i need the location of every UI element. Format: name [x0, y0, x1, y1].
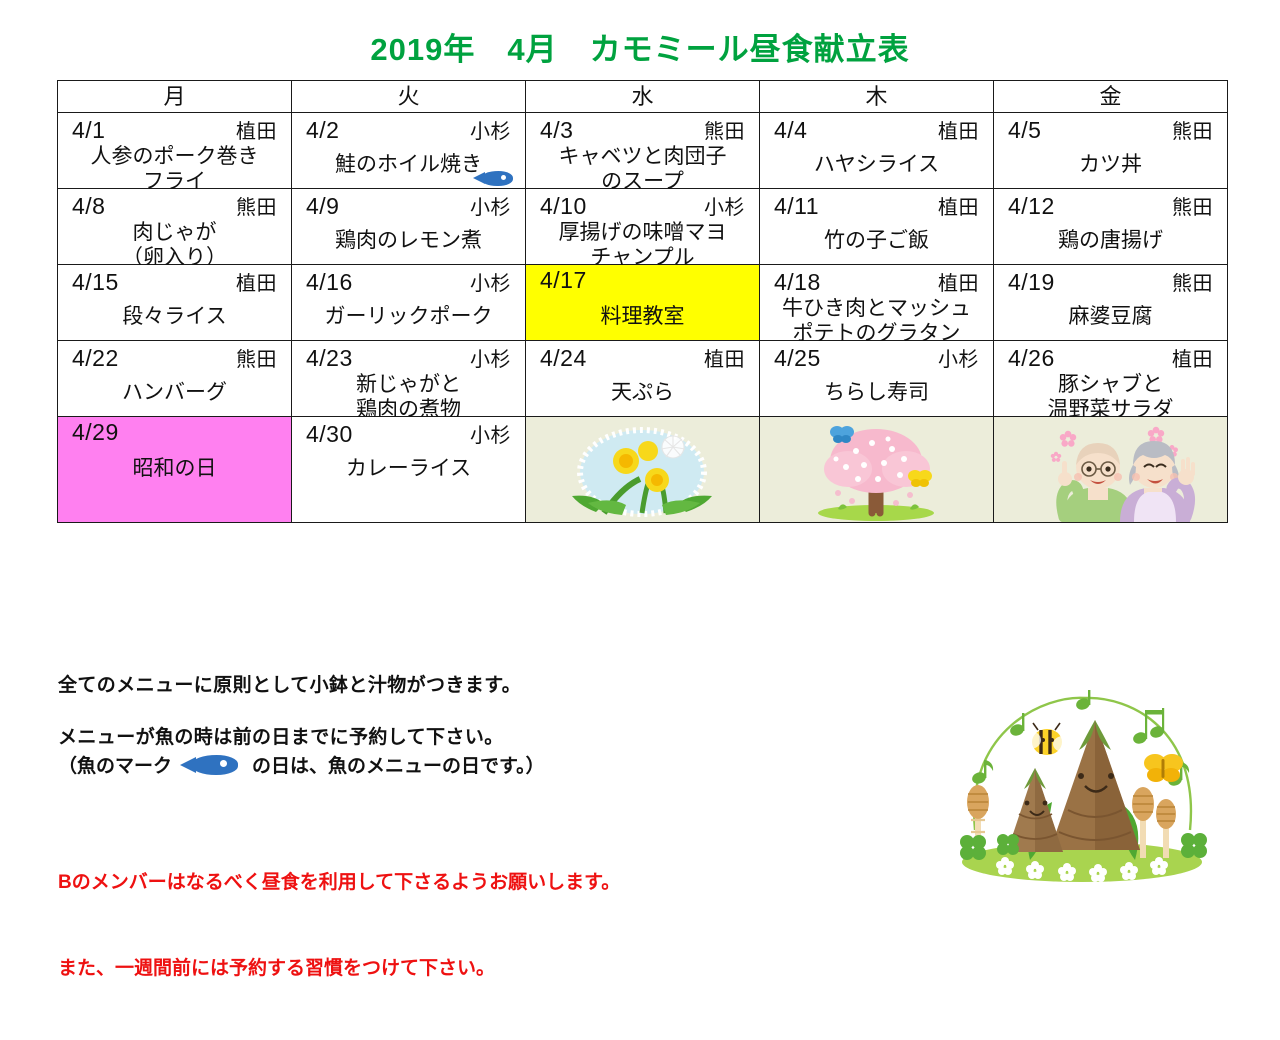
cell-header: 4/16小杉: [292, 265, 525, 293]
menu-cell[interactable]: 4/1植田人参のポーク巻き フライ: [58, 113, 292, 189]
menu-cell[interactable]: 4/29昭和の日: [58, 417, 292, 523]
cell-staff: 小杉: [470, 267, 511, 296]
note-fish-mark: （魚のマーク の日は、魚のメニューの日です。）: [58, 751, 898, 778]
menu-cell[interactable]: 4/26植田豚シャブと 温野菜サラダ: [994, 341, 1228, 417]
menu-cell-4-15[interactable]: 4/15植田段々ライス: [58, 265, 291, 340]
menu-cell-4-5[interactable]: 4/5熊田カツ丼: [994, 113, 1227, 188]
menu-cell-4-9[interactable]: 4/9小杉鶏肉のレモン煮: [292, 189, 525, 264]
menu-cell-4-30[interactable]: 4/30小杉カレーライス: [292, 417, 525, 522]
footer-notes: 全てのメニューに原則として小鉢と汁物がつきます。 メニューが魚の時は前の日までに…: [58, 672, 898, 1040]
menu-cell-4-8[interactable]: 4/8熊田肉じゃが （卵入り）: [58, 189, 291, 264]
day-header-mon: 月: [58, 81, 292, 113]
fish-icon: [473, 171, 519, 186]
cell-date: 4/1: [72, 117, 105, 144]
elderly-couple-illustration: [994, 417, 1227, 522]
cell-staff: 植田: [938, 115, 979, 144]
cell-date: 4/18: [774, 269, 821, 296]
cell-menu-text: 段々ライス: [58, 293, 291, 330]
cell-menu-text: 竹の子ご飯: [760, 217, 993, 254]
menu-cell-4-26[interactable]: 4/26植田豚シャブと 温野菜サラダ: [994, 341, 1227, 416]
illustration-cell: [994, 417, 1228, 523]
menu-cell[interactable]: 4/4植田ハヤシライス: [760, 113, 994, 189]
cell-date: 4/22: [72, 345, 119, 372]
cell-header: 4/25小杉: [760, 341, 993, 369]
menu-cell-4-25[interactable]: 4/25小杉ちらし寿司: [760, 341, 993, 416]
cell-date: 4/8: [72, 193, 105, 220]
lunch-menu-table: 月 火 水 木 金 4/1植田人参のポーク巻き フライ4/2小杉鮭のホイル焼き4…: [57, 80, 1228, 523]
menu-cell-4-23[interactable]: 4/23小杉新じゃがと 鶏肉の煮物: [292, 341, 525, 416]
menu-cell-4-3[interactable]: 4/3熊田キャベツと肉団子 のスープ: [526, 113, 759, 188]
cell-menu-text: 鶏肉のレモン煮: [292, 217, 525, 254]
note-red-line1: Bのメンバーはなるべく昼食を利用して下さるようお願いします。: [58, 869, 898, 898]
menu-cell[interactable]: 4/18植田牛ひき肉とマッシュ ポテトのグラタン: [760, 265, 994, 341]
cell-staff: 熊田: [1172, 267, 1213, 296]
page-title: 2019年 4月 カモミール昼食献立表: [0, 24, 1280, 69]
cell-menu-text: 肉じゃが （卵入り）: [58, 217, 291, 271]
cell-menu-text: 厚揚げの味噌マヨ チャンプル: [526, 217, 759, 271]
cell-date: 4/11: [774, 193, 819, 220]
cell-header: 4/18植田: [760, 265, 993, 293]
note-fish-reservation: メニューが魚の時は前の日までに予約して下さい。: [58, 724, 898, 752]
day-header-row: 月 火 水 木 金: [58, 81, 1228, 113]
cell-date: 4/29: [72, 419, 119, 446]
menu-cell[interactable]: 4/24植田天ぷら: [526, 341, 760, 417]
table-row: 4/1植田人参のポーク巻き フライ4/2小杉鮭のホイル焼き4/3熊田キャベツと肉…: [58, 113, 1228, 189]
menu-cell-4-10[interactable]: 4/10小杉厚揚げの味噌マヨ チャンプル: [526, 189, 759, 264]
cell-staff: 小杉: [470, 191, 511, 220]
cell-staff: 植田: [236, 115, 277, 144]
cell-header: 4/26植田: [994, 341, 1227, 369]
menu-cell[interactable]: 4/17料理教室: [526, 265, 760, 341]
menu-cell-4-17[interactable]: 4/17料理教室: [526, 265, 759, 340]
note-side-dishes: 全てのメニューに原則として小鉢と汁物がつきます。: [58, 672, 898, 700]
menu-cell-4-11[interactable]: 4/11植田竹の子ご飯: [760, 189, 993, 264]
cell-header: 4/19熊田: [994, 265, 1227, 293]
cell-menu-text: カレーライス: [292, 445, 525, 482]
cell-staff: 植田: [938, 267, 979, 296]
menu-cell[interactable]: 4/15植田段々ライス: [58, 265, 292, 341]
cell-menu-text: ハヤシライス: [760, 141, 993, 178]
menu-cell[interactable]: 4/30小杉カレーライス: [292, 417, 526, 523]
cell-menu-text: 麻婆豆腐: [994, 293, 1227, 330]
menu-cell-4-2[interactable]: 4/2小杉鮭のホイル焼き: [292, 113, 525, 188]
note-fish-mark-pre: （魚のマーク: [58, 751, 172, 778]
bamboo-shoot-spring-illustration: [935, 690, 1230, 885]
cell-header: 4/15植田: [58, 265, 291, 293]
cell-date: 4/17: [540, 267, 587, 294]
menu-cell[interactable]: 4/5熊田カツ丼: [994, 113, 1228, 189]
day-header-wed: 水: [526, 81, 760, 113]
cell-date: 4/24: [540, 345, 587, 372]
cell-header: 4/11植田: [760, 189, 993, 217]
cell-header: 4/22熊田: [58, 341, 291, 369]
menu-cell[interactable]: 4/11植田竹の子ご飯: [760, 189, 994, 265]
cell-menu-text: 牛ひき肉とマッシュ ポテトのグラタン: [760, 293, 993, 347]
menu-cell-4-18[interactable]: 4/18植田牛ひき肉とマッシュ ポテトのグラタン: [760, 265, 993, 340]
illustration-cell: [760, 417, 994, 523]
cell-menu-text: カツ丼: [994, 141, 1227, 178]
day-header-thu: 木: [760, 81, 994, 113]
cell-menu-text: 天ぷら: [526, 369, 759, 406]
cell-menu-text: 豚シャブと 温野菜サラダ: [994, 369, 1227, 423]
menu-cell-4-22[interactable]: 4/22熊田ハンバーグ: [58, 341, 291, 416]
cell-menu-text: 人参のポーク巻き フライ: [58, 141, 291, 195]
cell-header: 4/12熊田: [994, 189, 1227, 217]
menu-cell[interactable]: 4/9小杉鶏肉のレモン煮: [292, 189, 526, 265]
cell-date: 4/4: [774, 117, 807, 144]
cell-date: 4/5: [1008, 117, 1041, 144]
cell-staff: 熊田: [236, 343, 277, 372]
fish-icon: [180, 755, 244, 775]
day-header-tue: 火: [292, 81, 526, 113]
cell-header: 4/2小杉: [292, 113, 525, 141]
cell-date: 4/30: [306, 421, 353, 448]
menu-cell-4-19[interactable]: 4/19熊田麻婆豆腐: [994, 265, 1227, 340]
menu-cell-4-24[interactable]: 4/24植田天ぷら: [526, 341, 759, 416]
cell-staff: 植田: [236, 267, 277, 296]
menu-cell[interactable]: 4/23小杉新じゃがと 鶏肉の煮物: [292, 341, 526, 417]
cell-header: 4/10小杉: [526, 189, 759, 217]
cell-date: 4/26: [1008, 345, 1055, 372]
cell-header: 4/24植田: [526, 341, 759, 369]
cell-header: 4/17: [526, 265, 759, 293]
cherry-blossom-tree-illustration: [760, 417, 993, 522]
cell-staff: 植田: [704, 343, 745, 372]
menu-cell[interactable]: 4/8熊田肉じゃが （卵入り）: [58, 189, 292, 265]
cell-header: 4/29: [58, 417, 291, 445]
cell-menu-text: ガーリックポーク: [292, 293, 525, 330]
menu-cell-4-16[interactable]: 4/16小杉ガーリックポーク: [292, 265, 525, 340]
menu-cell-4-12[interactable]: 4/12熊田鶏の唐揚げ: [994, 189, 1227, 264]
cell-staff: 小杉: [470, 343, 511, 372]
note-red-line2: また、一週間前には予約する習慣をつけて下さい。: [58, 955, 898, 984]
cell-date: 4/9: [306, 193, 339, 220]
cell-date: 4/23: [306, 345, 353, 372]
cell-staff: 小杉: [938, 343, 979, 372]
cell-date: 4/15: [72, 269, 119, 296]
menu-cell-4-29[interactable]: 4/29昭和の日: [58, 417, 291, 522]
menu-cell[interactable]: 4/25小杉ちらし寿司: [760, 341, 994, 417]
cell-staff: 小杉: [470, 115, 511, 144]
cell-menu-text: 鶏の唐揚げ: [994, 217, 1227, 254]
cell-header: 4/4植田: [760, 113, 993, 141]
table-row: 4/15植田段々ライス4/16小杉ガーリックポーク4/17料理教室4/18植田牛…: [58, 265, 1228, 341]
cell-staff: 小杉: [704, 191, 745, 220]
cell-staff: 熊田: [1172, 191, 1213, 220]
menu-cell[interactable]: 4/22熊田ハンバーグ: [58, 341, 292, 417]
menu-cell-4-4[interactable]: 4/4植田ハヤシライス: [760, 113, 993, 188]
day-header-fri: 金: [994, 81, 1228, 113]
cell-staff: 植田: [1172, 343, 1213, 372]
cell-date: 4/10: [540, 193, 587, 220]
cell-menu-text: 新じゃがと 鶏肉の煮物: [292, 369, 525, 423]
cell-header: 4/23小杉: [292, 341, 525, 369]
cell-date: 4/2: [306, 117, 339, 144]
cell-date: 4/25: [774, 345, 821, 372]
cell-staff: 熊田: [236, 191, 277, 220]
table-row: 4/29昭和の日4/30小杉カレーライス: [58, 417, 1228, 523]
menu-cell[interactable]: 4/16小杉ガーリックポーク: [292, 265, 526, 341]
note-fish-mark-post: の日は、魚のメニューの日です。）: [252, 751, 545, 778]
cell-date: 4/3: [540, 117, 573, 144]
cell-date: 4/19: [1008, 269, 1055, 296]
cell-menu-text: キャベツと肉団子 のスープ: [526, 141, 759, 195]
table-row: 4/8熊田肉じゃが （卵入り）4/9小杉鶏肉のレモン煮4/10小杉厚揚げの味噌マ…: [58, 189, 1228, 265]
menu-cell[interactable]: 4/19熊田麻婆豆腐: [994, 265, 1228, 341]
cell-date: 4/12: [1008, 193, 1055, 220]
cell-date: 4/16: [306, 269, 353, 296]
cell-header: 4/3熊田: [526, 113, 759, 141]
cell-staff: 熊田: [704, 115, 745, 144]
cell-menu-text: ちらし寿司: [760, 369, 993, 406]
menu-cell[interactable]: 4/2小杉鮭のホイル焼き: [292, 113, 526, 189]
cell-header: 4/1植田: [58, 113, 291, 141]
menu-cell[interactable]: 4/12熊田鶏の唐揚げ: [994, 189, 1228, 265]
menu-cell[interactable]: 4/3熊田キャベツと肉団子 のスープ: [526, 113, 760, 189]
cell-staff: 熊田: [1172, 115, 1213, 144]
illustration-cell: [526, 417, 760, 523]
menu-table-body: 4/1植田人参のポーク巻き フライ4/2小杉鮭のホイル焼き4/3熊田キャベツと肉…: [58, 113, 1228, 523]
cell-header: 4/9小杉: [292, 189, 525, 217]
cell-menu-text: 料理教室: [526, 293, 759, 330]
cell-menu-text: ハンバーグ: [58, 369, 291, 406]
cell-staff: 小杉: [470, 419, 511, 448]
cell-header: 4/5熊田: [994, 113, 1227, 141]
cell-staff: 植田: [938, 191, 979, 220]
cell-header: 4/30小杉: [292, 417, 525, 445]
dandelion-illustration: [526, 417, 759, 522]
cell-header: 4/8熊田: [58, 189, 291, 217]
note-member-b-request: Bのメンバーはなるべく昼食を利用して下さるようお願いします。 また、一週間前には…: [58, 812, 898, 1040]
cell-menu-text: 昭和の日: [58, 445, 291, 482]
menu-cell-4-1[interactable]: 4/1植田人参のポーク巻き フライ: [58, 113, 291, 188]
menu-cell[interactable]: 4/10小杉厚揚げの味噌マヨ チャンプル: [526, 189, 760, 265]
table-row: 4/22熊田ハンバーグ4/23小杉新じゃがと 鶏肉の煮物4/24植田天ぷら4/2…: [58, 341, 1228, 417]
